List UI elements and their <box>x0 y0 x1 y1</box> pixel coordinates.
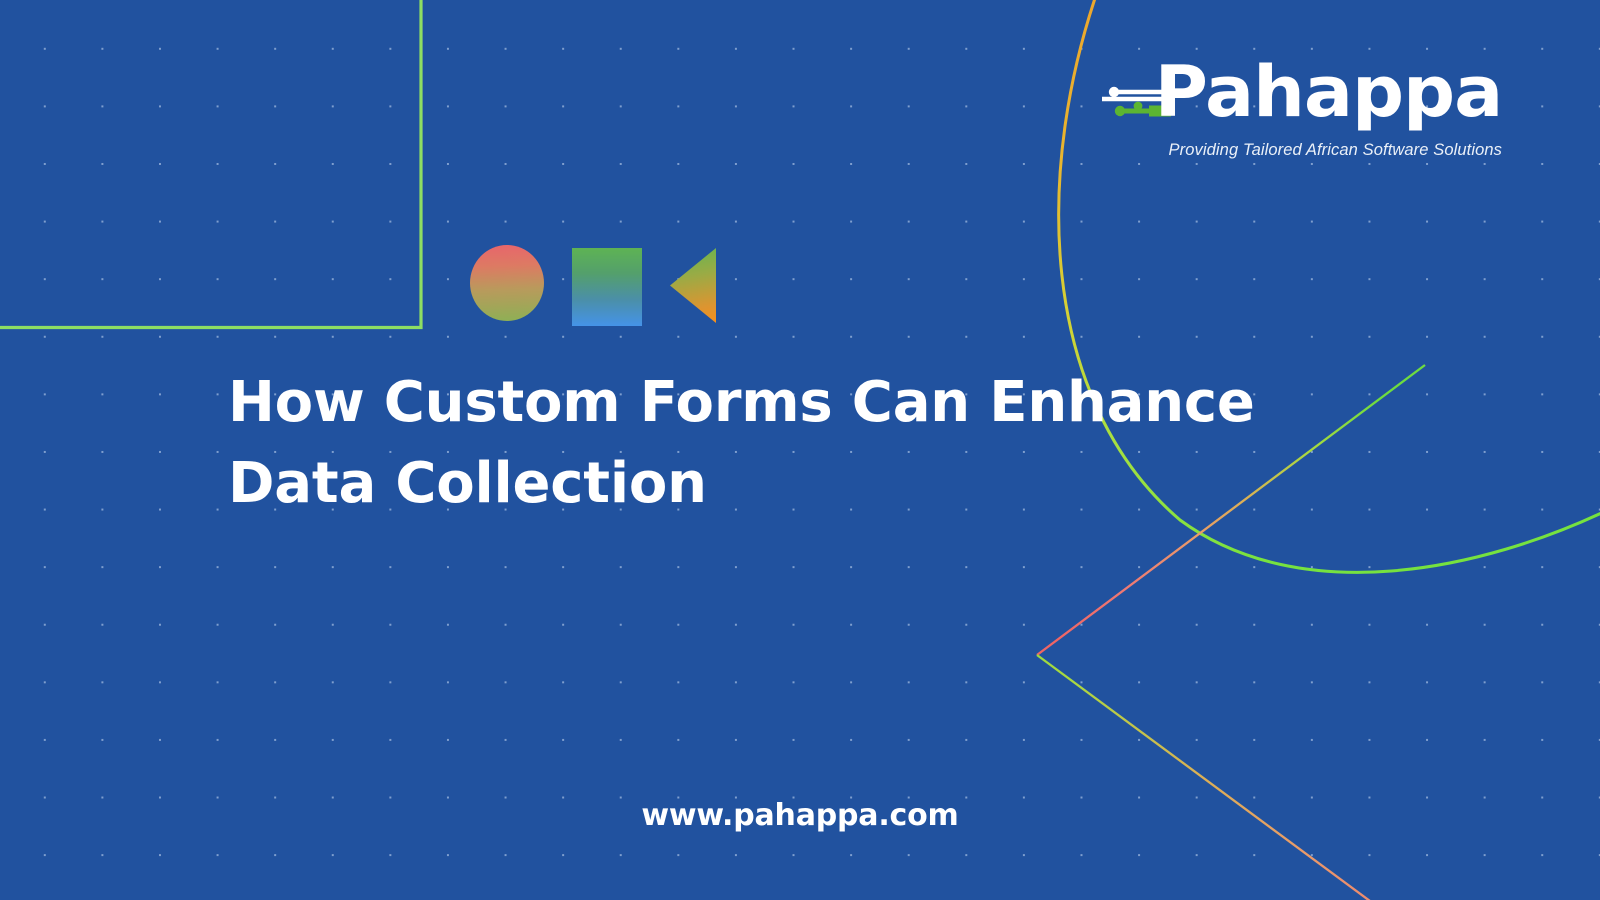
gradient-square <box>572 248 642 326</box>
logo-wordmark: Pahappa <box>1154 57 1502 127</box>
website-url[interactable]: www.pahappa.com <box>0 798 1600 833</box>
gradient-circle <box>470 245 544 321</box>
logo-row: Pahappa <box>1082 54 1502 130</box>
page-title: How Custom Forms Can Enhance Data Collec… <box>228 362 1348 524</box>
gradient-shape-trio <box>470 245 716 326</box>
large-triangle-outline-lower <box>1037 655 1420 900</box>
brand-logo-block[interactable]: Pahappa Providing Tailored African Softw… <box>1082 54 1502 160</box>
gradient-triangle <box>670 248 716 323</box>
brand-tagline: Providing Tailored African Software Solu… <box>1082 141 1502 160</box>
top-left-rectangle-outline <box>0 0 421 328</box>
title-slide: Pahappa Providing Tailored African Softw… <box>0 0 1600 900</box>
